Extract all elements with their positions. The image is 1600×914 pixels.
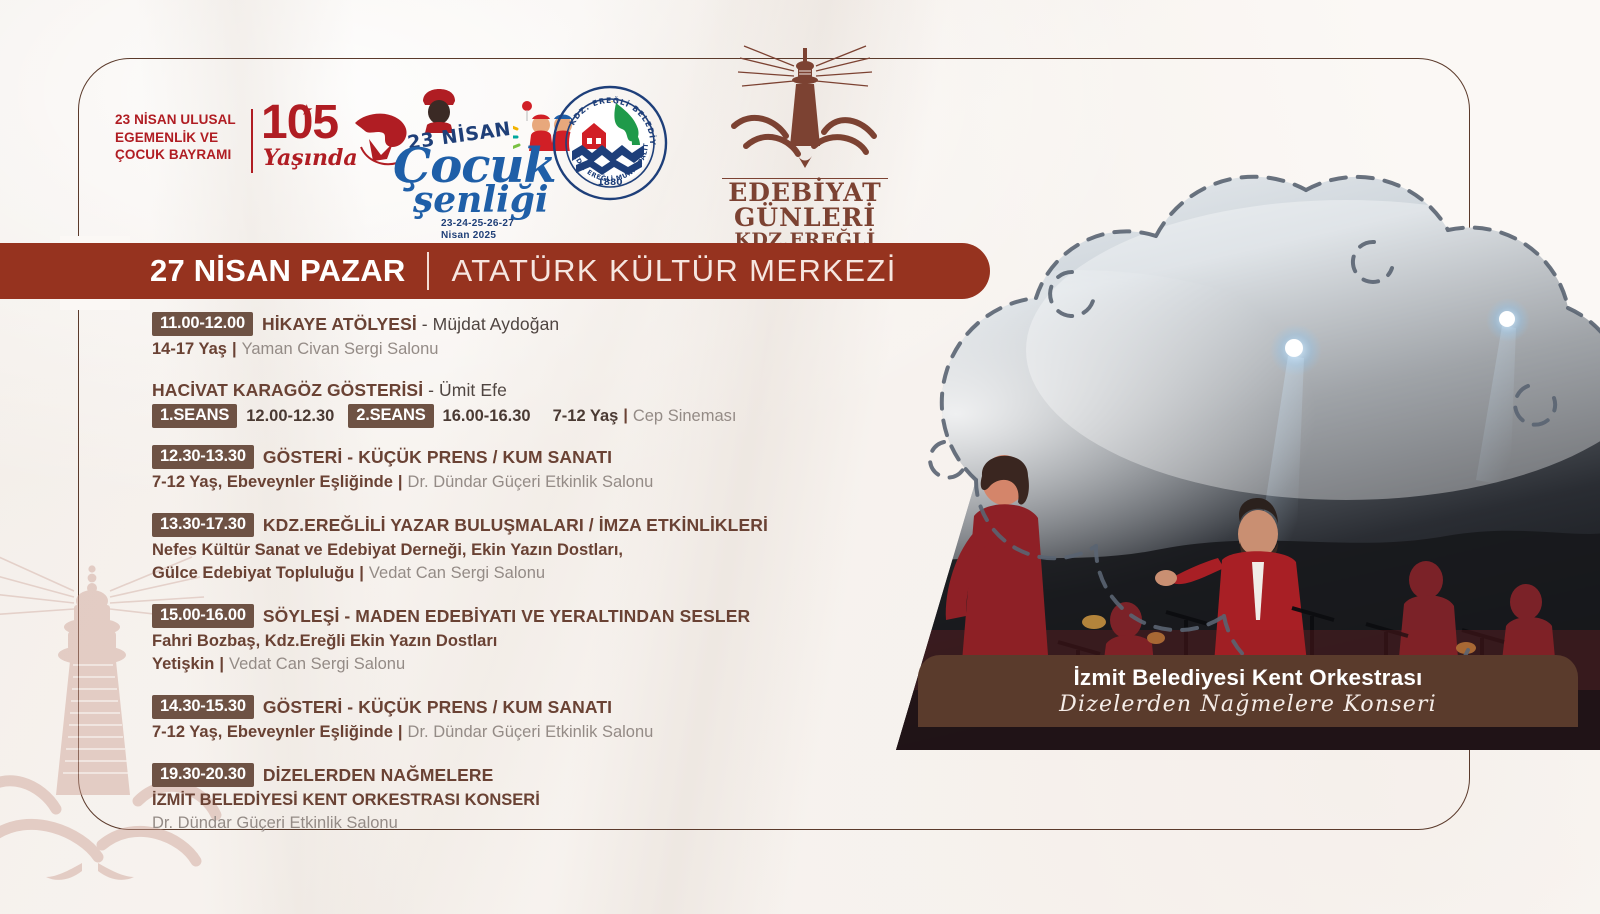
event-title: SÖYLEŞİ - MADEN EDEBİYATI VE YERALTINDAN…	[263, 606, 750, 627]
session-1-chip: 1.SEANS	[152, 404, 237, 428]
event-detail-line1: Fahri Bozbaş, Kdz.Ereğli Ekin Yazın Dost…	[152, 630, 852, 653]
caption-title: İzmit Belediyesi Kent Orkestrası	[1073, 665, 1422, 691]
event-dash: -	[423, 380, 439, 400]
event-time-chip: 13.30-17.30	[152, 513, 254, 537]
event-title-text: HİKAYE ATÖLYESİ	[262, 314, 417, 334]
event-item: HACİVAT KARAGÖZ GÖSTERİSİ - Ümit Efe 1.S…	[152, 380, 852, 428]
anniversary-line2: EGEMENLİK VE	[115, 129, 243, 147]
event-dash: -	[417, 314, 433, 334]
festival-dates-days: 23-24-25-26-27	[441, 218, 514, 230]
event-title: KDZ.EREĞLİLİ YAZAR BULUŞMALARI / İMZA ET…	[263, 515, 768, 536]
event-pipe: |	[214, 655, 229, 673]
event-detail-line1: Nefes Kültür Sanat ve Edebiyat Derneği, …	[152, 539, 852, 562]
event-title: HİKAYE ATÖLYESİ - Müjdat Aydoğan	[262, 314, 559, 335]
festival-dates: 23-24-25-26-27 Nisan 2025	[441, 218, 514, 242]
anniversary-line3: ÇOCUK BAYRAMI	[115, 146, 243, 164]
event-item: 13.30-17.30 KDZ.EREĞLİLİ YAZAR BULUŞMALA…	[152, 513, 852, 585]
event-audience: 7-12 Yaş, Ebeveynler Eşliğinde	[152, 473, 393, 491]
event-item: 19.30-20.30 DİZELERDEN NAĞMELERE İZMİT B…	[152, 763, 852, 835]
event-subline: 7-12 Yaş, Ebeveynler Eşliğinde|Dr. Dünda…	[152, 471, 852, 494]
event-pipe: |	[618, 407, 632, 425]
photo-caption-box: İzmit Belediyesi Kent Orkestrası Dizeler…	[918, 655, 1578, 727]
event-title-text: HACİVAT KARAGÖZ GÖSTERİSİ	[152, 380, 423, 400]
session-1-time: 12.00-12.30	[246, 407, 334, 426]
event-audience: 7-12 Yaş, Ebeveynler Eşliğinde	[152, 723, 393, 741]
banner-separator	[427, 252, 429, 290]
event-pipe: |	[393, 723, 408, 741]
event-venue: Dr. Dündar Güçeri Etkinlik Salonu	[408, 723, 654, 741]
anniversary-divider	[251, 109, 253, 173]
event-time-chip: 14.30-15.30	[152, 695, 254, 719]
event-detail-line2: Gülce Edebiyat Topluluğu	[152, 564, 354, 582]
event-audience: 14-17 Yaş	[152, 340, 227, 358]
event-subline: 7-12 Yaş, Ebeveynler Eşliğinde|Dr. Dünda…	[152, 721, 852, 744]
event-time-chip: 11.00-12.00	[152, 312, 253, 336]
event-venue: Cep Sineması	[633, 407, 737, 426]
session-2-chip: 2.SEANS	[348, 404, 433, 428]
event-venue: Dr. Dündar Güçeri Etkinlik Salonu	[152, 812, 852, 835]
event-item: 11.00-12.00 HİKAYE ATÖLYESİ - Müjdat Ayd…	[152, 312, 852, 361]
event-item: 15.00-16.00 SÖYLEŞİ - MADEN EDEBİYATI VE…	[152, 604, 852, 676]
event-pipe: |	[354, 564, 369, 582]
event-item: 12.30-13.30 GÖSTERİ - KÜÇÜK PRENS / KUM …	[152, 445, 852, 494]
session-2-time: 16.00-16.30	[443, 407, 531, 426]
event-venue: Vedat Can Sergi Salonu	[369, 564, 545, 582]
event-pipe: |	[227, 340, 242, 358]
event-audience: 7-12 Yaş	[553, 407, 619, 426]
event-time-chip: 15.00-16.00	[152, 604, 254, 628]
schedule-list: 11.00-12.00 HİKAYE ATÖLYESİ - Müjdat Ayd…	[152, 312, 852, 854]
event-person: Müjdat Aydoğan	[433, 314, 560, 334]
logo-23-nisan-105: 23 NİSAN ULUSAL EGEMENLİK VE ÇOCUK BAYRA…	[115, 105, 385, 185]
event-subline: 14-17 Yaş|Yaman Civan Sergi Salonu	[152, 338, 852, 361]
logo-municipality-seal: 1880 KDZ. EREĞLİ BELEDİYESİ KDZ. EREĞLİ …	[552, 85, 668, 201]
banner-date: 27 NİSAN PAZAR	[150, 253, 405, 289]
event-pipe: |	[393, 473, 408, 491]
event-subline: Gülce Edebiyat Topluluğu|Vedat Can Sergi…	[152, 562, 852, 585]
event-title: DİZELERDEN NAĞMELERE	[263, 765, 493, 786]
event-person: Ümit Efe	[439, 380, 507, 400]
event-venue: Dr. Dündar Güçeri Etkinlik Salonu	[408, 473, 654, 491]
event-title: HACİVAT KARAGÖZ GÖSTERİSİ - Ümit Efe	[152, 380, 507, 401]
poster-root: 23 NİSAN ULUSAL EGEMENLİK VE ÇOCUK BAYRA…	[0, 0, 1600, 914]
festival-dates-month: Nisan 2025	[441, 230, 514, 242]
event-detail-line2: İZMİT BELEDİYESİ KENT ORKESTRASI KONSERİ	[152, 789, 852, 812]
crescent-star-icon: ★	[300, 101, 313, 119]
event-title: GÖSTERİ - KÜÇÜK PRENS / KUM SANATI	[263, 697, 612, 718]
event-audience: Yetişkin	[152, 655, 214, 673]
anniversary-line1: 23 NİSAN ULUSAL	[115, 111, 243, 129]
festival-word-senligi: şenliği	[413, 183, 549, 217]
anniversary-text: 23 NİSAN ULUSAL EGEMENLİK VE ÇOCUK BAYRA…	[115, 111, 243, 164]
event-item: 14.30-15.30 GÖSTERİ - KÜÇÜK PRENS / KUM …	[152, 695, 852, 744]
event-venue: Vedat Can Sergi Salonu	[229, 655, 405, 673]
logo-row: 23 NİSAN ULUSAL EGEMENLİK VE ÇOCUK BAYRA…	[110, 45, 890, 245]
anniversary-suffix: Yaşında	[263, 145, 358, 171]
event-title: GÖSTERİ - KÜÇÜK PRENS / KUM SANATI	[263, 447, 612, 468]
caption-subtitle: Dizelerden Nağmelere Konseri	[1059, 692, 1437, 717]
event-sessions: 1.SEANS 12.00-12.30 2.SEANS 16.00-16.30 …	[152, 404, 852, 428]
event-subline: Yetişkin|Vedat Can Sergi Salonu	[152, 653, 852, 676]
event-time-chip: 12.30-13.30	[152, 445, 254, 469]
event-time-chip: 19.30-20.30	[152, 763, 254, 787]
event-venue: Yaman Civan Sergi Salonu	[242, 340, 439, 358]
